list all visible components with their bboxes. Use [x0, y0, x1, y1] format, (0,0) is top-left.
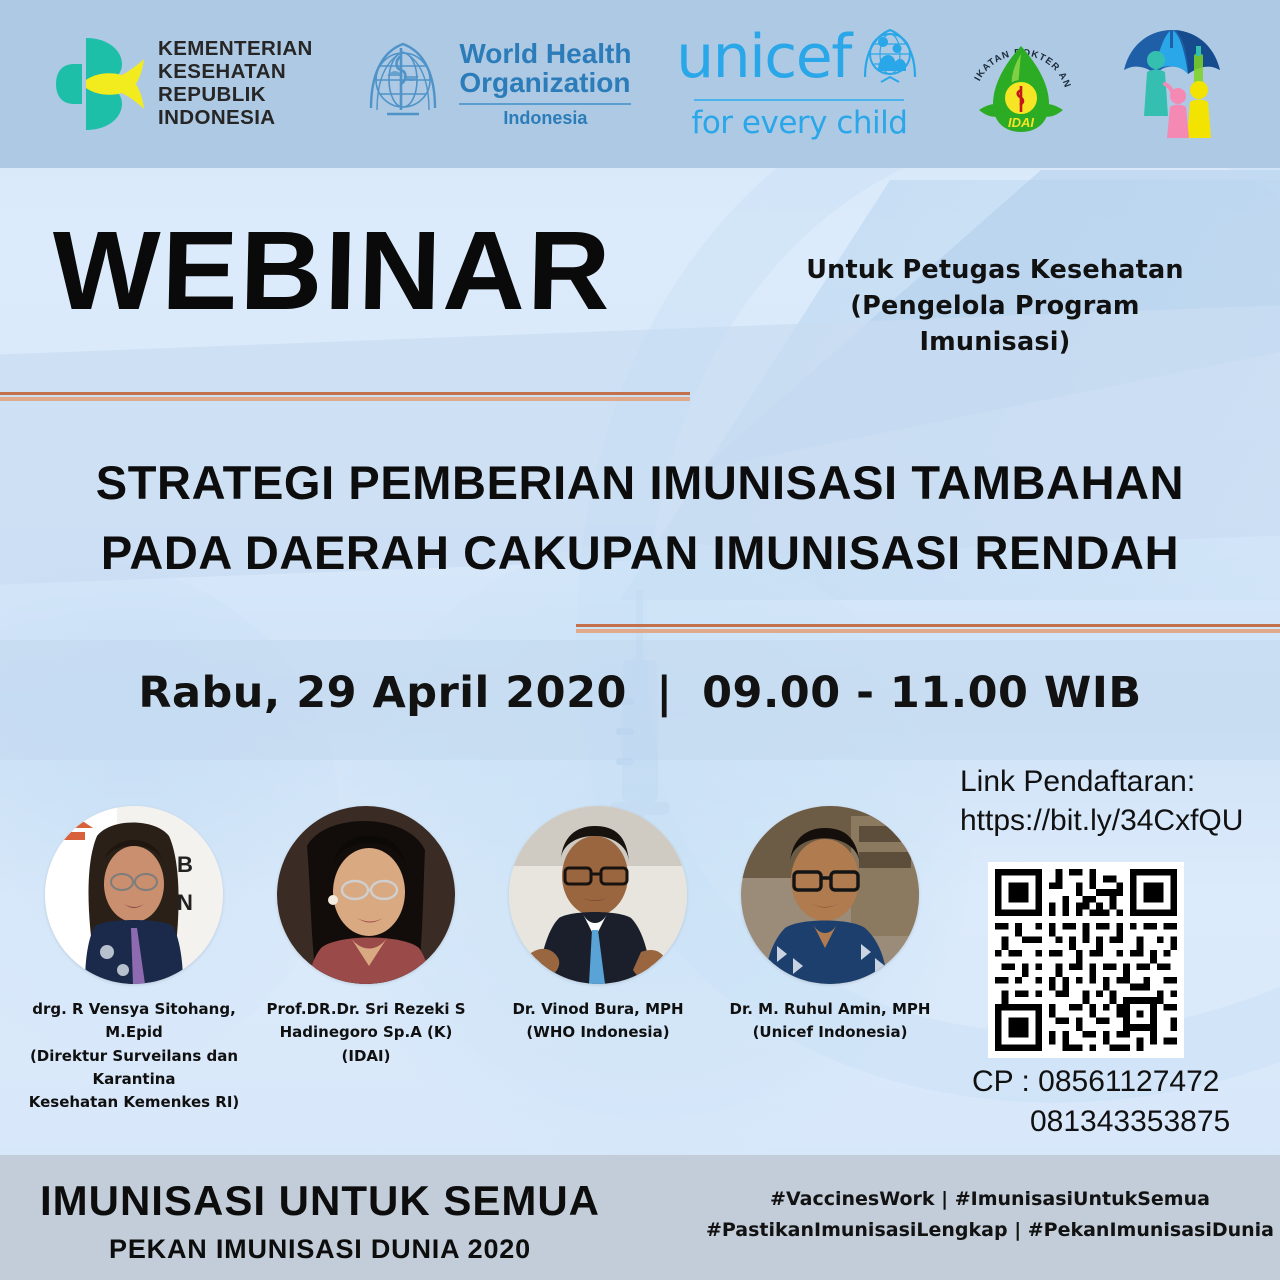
headline-line-2: PADA DAERAH CAKUPAN IMUNISASI RENDAH [0, 518, 1280, 588]
unicef-divider [694, 99, 904, 101]
audience-line-1: Untuk Petugas Kesehatan [780, 252, 1210, 288]
kemenkes-line-2: KESEHATAN [158, 61, 313, 84]
speaker-photo-ruhul-amin [741, 806, 919, 984]
divider-top-light [0, 397, 690, 401]
speaker-photo-vinod-bura [509, 806, 687, 984]
contact-info: CP : 08561127472 081343353875 [972, 1062, 1272, 1141]
who-country: Indonesia [459, 109, 631, 128]
who-logo-text: World Health Organization Indonesia [459, 40, 631, 127]
speaker-name-line-2: Hadinegoro Sp.A (K) [254, 1021, 478, 1044]
unicef-wordmark: unicef [676, 32, 851, 84]
qr-code-icon [988, 862, 1184, 1058]
speaker-card: Dr. Vinod Bura, MPH (WHO Indonesia) [482, 806, 714, 1114]
registration-url[interactable]: https://bit.ly/34CxfQU [960, 801, 1270, 840]
hashtags-line-2: #PastikanImunisasiLengkap | #PekanImunis… [700, 1215, 1280, 1246]
registration-block: Link Pendaftaran: https://bit.ly/34CxfQU [960, 762, 1270, 840]
speaker-name-line-3: (IDAI) [254, 1045, 478, 1068]
speaker-name: Dr. Vinod Bura, MPH (WHO Indonesia) [482, 998, 714, 1045]
event-time: 09.00 - 11.00 WIB [702, 668, 1142, 718]
target-audience: Untuk Petugas Kesehatan (Pengelola Progr… [780, 252, 1210, 361]
speaker-name-line-3: Kesehatan Kemenkes RI) [22, 1091, 246, 1114]
unicef-logo: unicef for every child [676, 27, 923, 141]
kemenkes-line-4: INDONESIA [158, 107, 313, 130]
divider-top-dark [0, 392, 690, 395]
speaker-portrait-icon [509, 806, 687, 984]
speaker-portrait-icon: n B N [45, 806, 223, 984]
unicef-tagline: for every child [691, 105, 907, 141]
speaker-name-line-1: Dr. Vinod Bura, MPH [486, 998, 710, 1021]
unicef-emblem-icon [857, 27, 923, 89]
divider-bottom-dark [576, 624, 1280, 627]
hashtags-line-1: #VaccinesWork | #ImunisasiUntukSemua [700, 1184, 1280, 1215]
speaker-card: Dr. M. Ruhul Amin, MPH (Unicef Indonesia… [714, 806, 946, 1114]
who-emblem-icon [357, 36, 449, 132]
kemenkes-logo-text: KEMENTERIAN KESEHATAN REPUBLIK INDONESIA [158, 38, 313, 130]
divider-bottom-light [576, 629, 1280, 633]
immunization-family-logo [1120, 24, 1224, 144]
partner-logo-bar: KEMENTERIAN KESEHATAN REPUBLIK INDONESIA [0, 0, 1280, 168]
divider-bottom [576, 624, 1280, 633]
who-line-1: World Health [459, 40, 631, 69]
speaker-name-line-1: drg. R Vensya Sitohang, M.Epid [22, 998, 246, 1045]
kemenkes-logo: KEMENTERIAN KESEHATAN REPUBLIK INDONESIA [56, 32, 313, 136]
divider-top [0, 392, 690, 401]
footer-slogan-block: IMUNISASI UNTUK SEMUA PEKAN IMUNISASI DU… [0, 1178, 640, 1265]
svg-text:B: B [177, 852, 193, 877]
speaker-name-line-2: (Unicef Indonesia) [718, 1021, 942, 1044]
speaker-list: n B N drg. R Vensya Sitohang [18, 806, 948, 1114]
who-line-2: Organization [459, 69, 631, 98]
footer-subslogan: PEKAN IMUNISASI DUNIA 2020 [0, 1234, 640, 1265]
speaker-name-line-2: (Direktur Surveilans dan Karantina [22, 1045, 246, 1092]
speaker-photo-vensya: n B N [45, 806, 223, 984]
speaker-portrait-icon [277, 806, 455, 984]
speaker-name-line-2: (WHO Indonesia) [486, 1021, 710, 1044]
speaker-portrait-icon [741, 806, 919, 984]
svg-text:IDAI: IDAI [1008, 115, 1034, 130]
datetime-separator: | [642, 668, 686, 718]
speaker-name-line-1: Prof.DR.Dr. Sri Rezeki S [254, 998, 478, 1021]
idai-logo: IKATAN DOKTER ANAK INDONESIA IDAI [967, 24, 1075, 144]
footer-slogan: IMUNISASI UNTUK SEMUA [0, 1178, 640, 1224]
event-datetime: Rabu, 29 April 2020 | 09.00 - 11.00 WIB [0, 668, 1280, 718]
speaker-name: Prof.DR.Dr. Sri Rezeki S Hadinegoro Sp.A… [250, 998, 482, 1068]
webinar-poster: KEMENTERIAN KESEHATAN REPUBLIK INDONESIA [0, 0, 1280, 1280]
page-title: WEBINAR [51, 215, 613, 327]
event-date: Rabu, 29 April 2020 [138, 668, 627, 718]
speaker-card: n B N drg. R Vensya Sitohang [18, 806, 250, 1114]
webinar-headline: STRATEGI PEMBERIAN IMUNISASI TAMBAHAN PA… [0, 448, 1280, 587]
kemenkes-line-1: KEMENTERIAN [158, 38, 313, 61]
svg-text:N: N [177, 890, 193, 915]
speaker-name: Dr. M. Ruhul Amin, MPH (Unicef Indonesia… [714, 998, 946, 1045]
unicef-wordmark-row: unicef [676, 27, 923, 89]
kemenkes-mark-icon [56, 32, 148, 136]
speaker-photo-sri-rezeki [277, 806, 455, 984]
contact-line-1: CP : 08561127472 [972, 1062, 1272, 1102]
speaker-name-line-1: Dr. M. Ruhul Amin, MPH [718, 998, 942, 1021]
who-divider [459, 103, 631, 105]
headline-line-1: STRATEGI PEMBERIAN IMUNISASI TAMBAHAN [0, 448, 1280, 518]
audience-line-2: (Pengelola Program Imunisasi) [780, 288, 1210, 360]
who-logo: World Health Organization Indonesia [357, 36, 631, 132]
registration-label: Link Pendaftaran: [960, 762, 1270, 801]
speaker-name: drg. R Vensya Sitohang, M.Epid (Direktur… [18, 998, 250, 1114]
footer-hashtags: #VaccinesWork | #ImunisasiUntukSemua #Pa… [700, 1184, 1280, 1247]
qr-code-registration[interactable] [988, 862, 1184, 1058]
speaker-card: Prof.DR.Dr. Sri Rezeki S Hadinegoro Sp.A… [250, 806, 482, 1114]
contact-line-2: 081343353875 [972, 1102, 1272, 1142]
kemenkes-line-3: REPUBLIK [158, 84, 313, 107]
